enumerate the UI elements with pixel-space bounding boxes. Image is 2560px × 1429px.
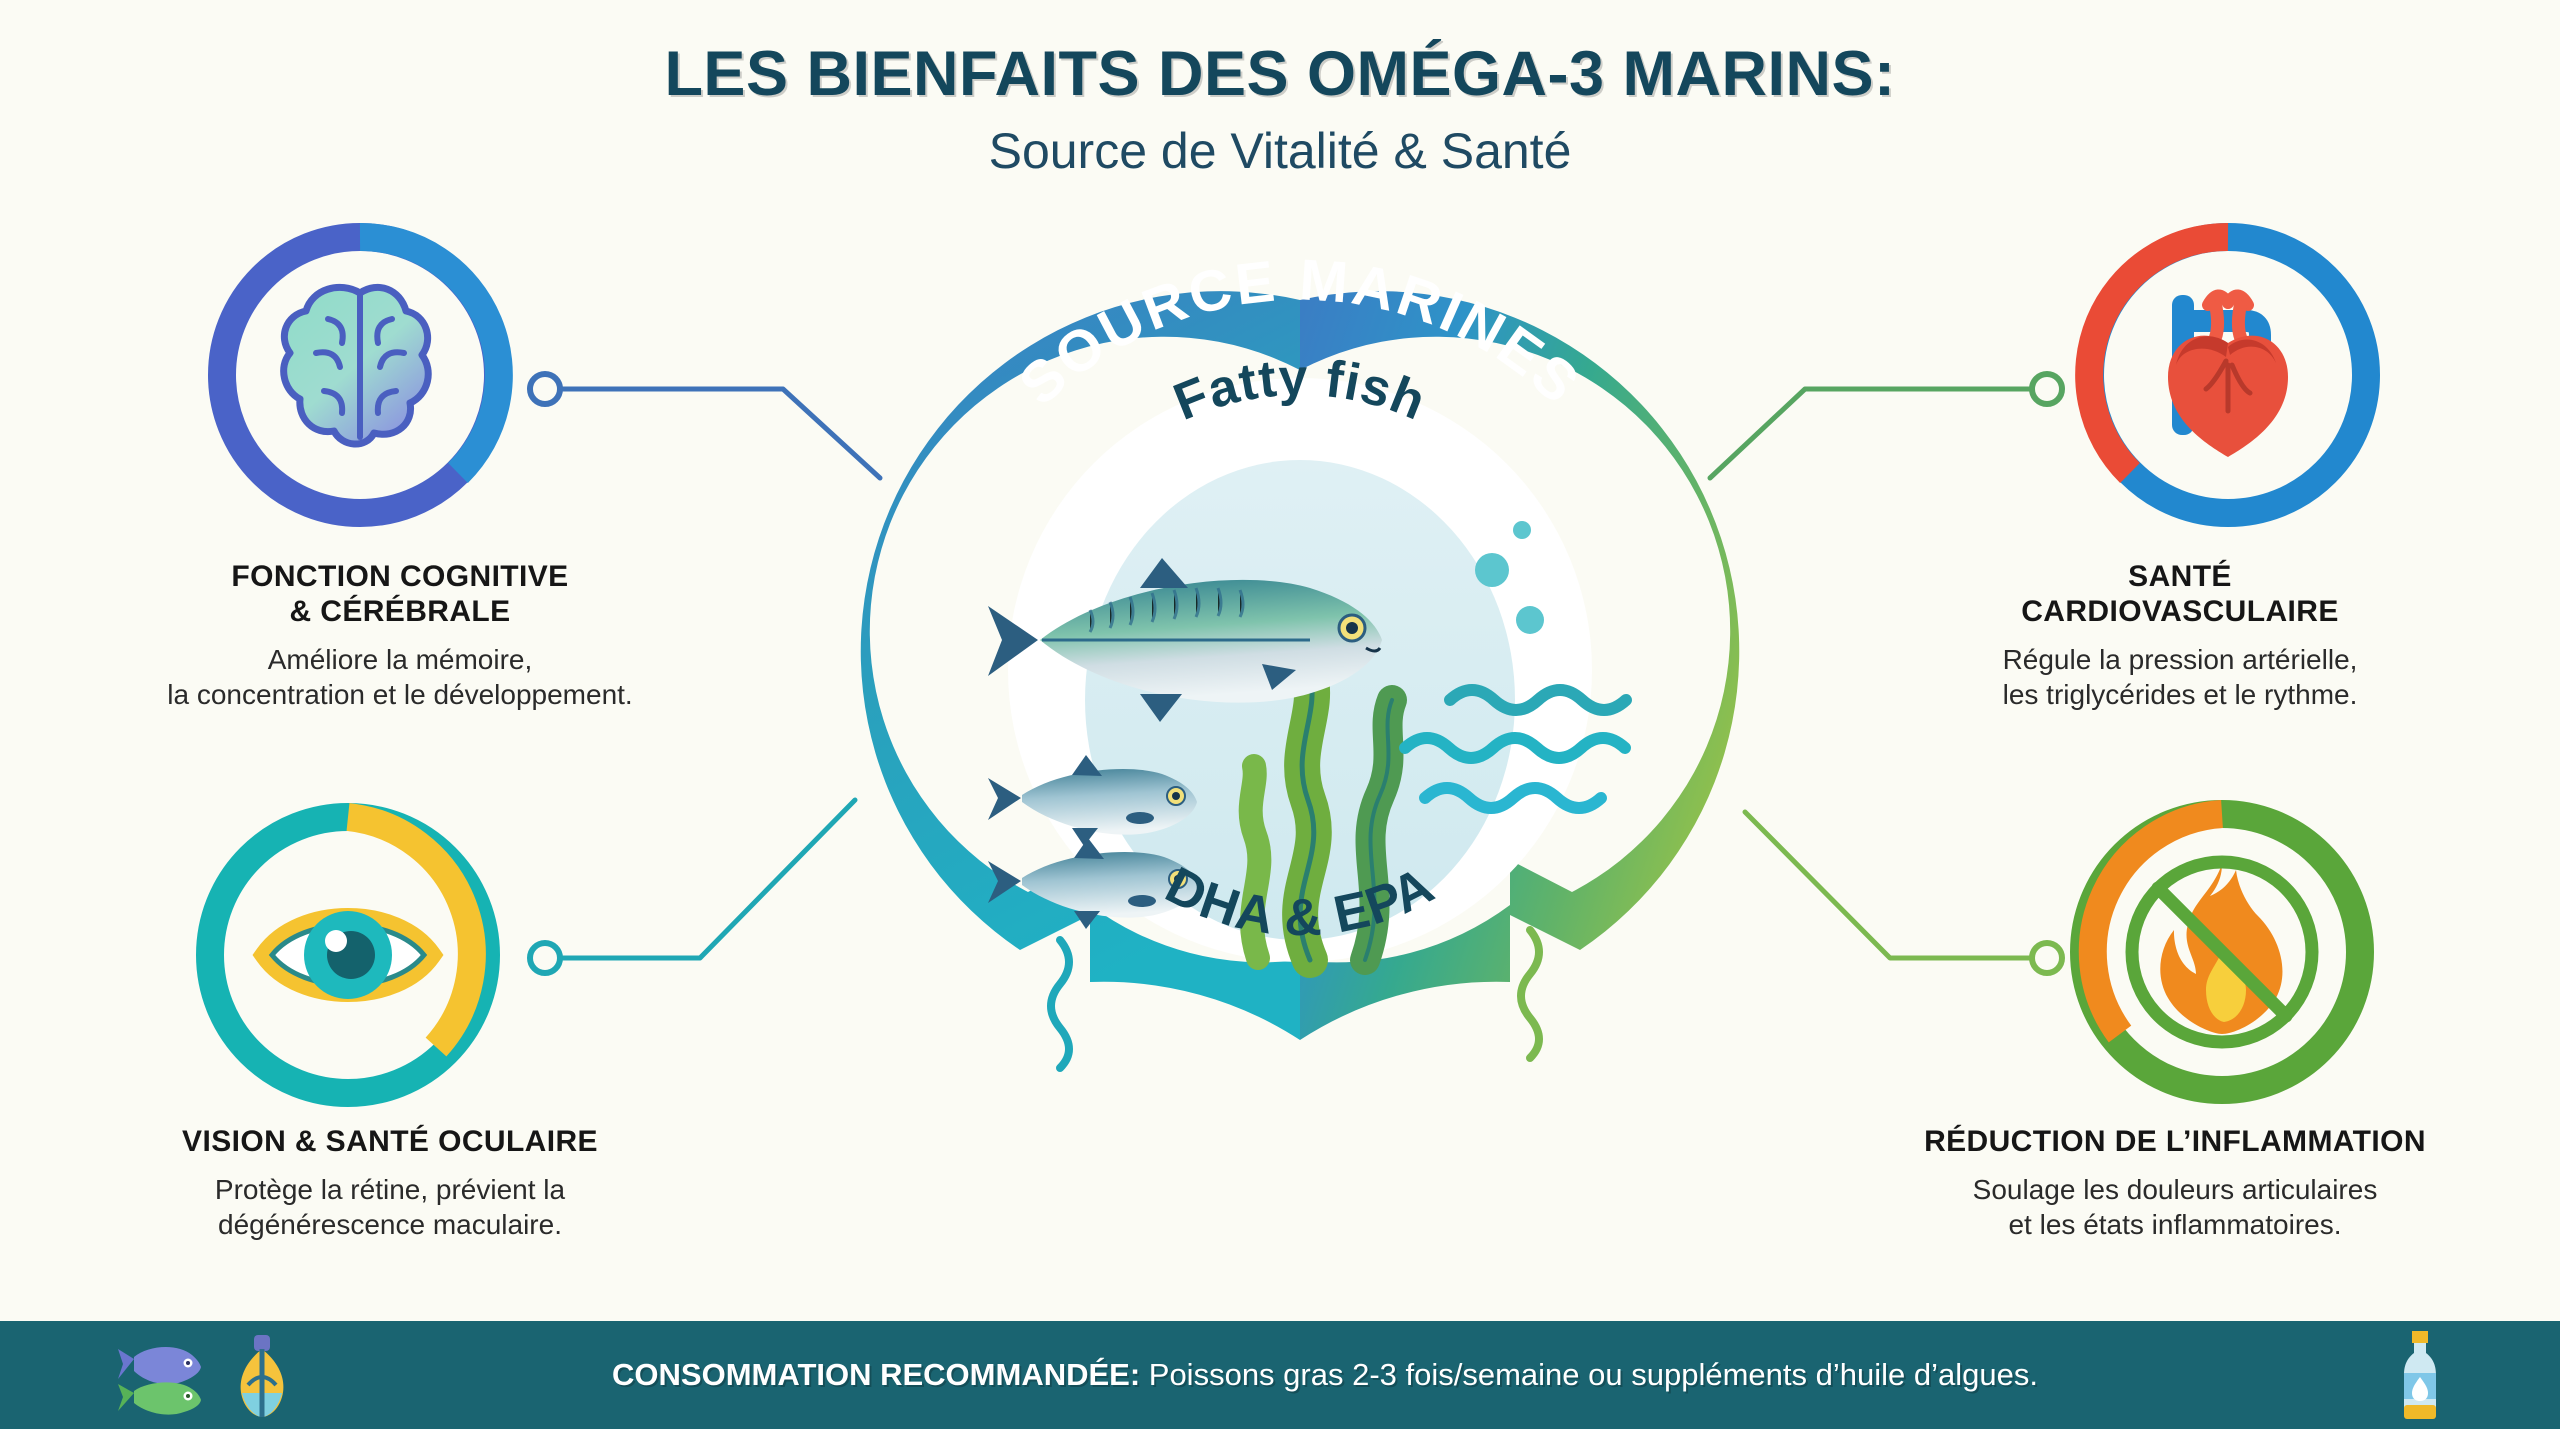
- banner-label: CONSOMMATION RECOMMANDÉE:: [612, 1357, 1140, 1392]
- banner-detail: Poissons gras 2-3 fois/semaine ou supplé…: [1140, 1357, 2038, 1392]
- recommendation-banner: CONSOMMATION RECOMMANDÉE: Poissons gras …: [0, 1321, 2560, 1429]
- badge-brain[interactable]: [200, 215, 520, 535]
- oil-bottle-icon: [2392, 1329, 2448, 1421]
- fish-icon: [112, 1329, 222, 1421]
- feature-desc: Régule la pression artérielle, les trigl…: [1800, 642, 2560, 713]
- feature-title: SANTÉ CARDIOVASCULAIRE: [1800, 560, 2560, 630]
- eye-icon: [266, 911, 430, 999]
- banner-text: CONSOMMATION RECOMMANDÉE: Poissons gras …: [258, 1357, 2392, 1393]
- feature-title: FONCTION COGNITIVE & CÉRÉBRALE: [20, 560, 780, 630]
- feature-title: VISION & SANTÉ OCULAIRE: [10, 1125, 770, 1160]
- no-fire-icon: [2132, 862, 2312, 1042]
- feature-desc: Protège la rétine, prévient la dégénéres…: [10, 1172, 770, 1243]
- feature-block-brain: FONCTION COGNITIVE & CÉRÉBRALE Améliore …: [20, 560, 780, 712]
- feature-title: RÉDUCTION DE L’INFLAMMATION: [1790, 1125, 2560, 1160]
- heart-icon: [2168, 295, 2288, 457]
- page-title: LES BIENFAITS DES OMÉGA-3 MARINS:: [0, 38, 2560, 110]
- central-diagram: SOURCE MARINES Fatty fish DHA & EPA: [810, 170, 1790, 1170]
- feature-block-inflammation: RÉDUCTION DE L’INFLAMMATION Soulage les …: [1790, 1125, 2560, 1242]
- feature-block-eye: VISION & SANTÉ OCULAIRE Protège la rétin…: [10, 1125, 770, 1242]
- feature-block-heart: SANTÉ CARDIOVASCULAIRE Régule la pressio…: [1800, 560, 2560, 712]
- badge-heart[interactable]: [2068, 215, 2388, 535]
- infographic-canvas: LES BIENFAITS DES OMÉGA-3 MARINS: Source…: [0, 0, 2560, 1429]
- feature-desc: Soulage les douleurs articulaires et les…: [1790, 1172, 2560, 1243]
- feature-desc: Améliore la mémoire, la concentration et…: [20, 642, 780, 713]
- brain-icon: [284, 287, 429, 444]
- badge-eye[interactable]: [188, 795, 508, 1115]
- badge-inflammation[interactable]: [2062, 792, 2382, 1112]
